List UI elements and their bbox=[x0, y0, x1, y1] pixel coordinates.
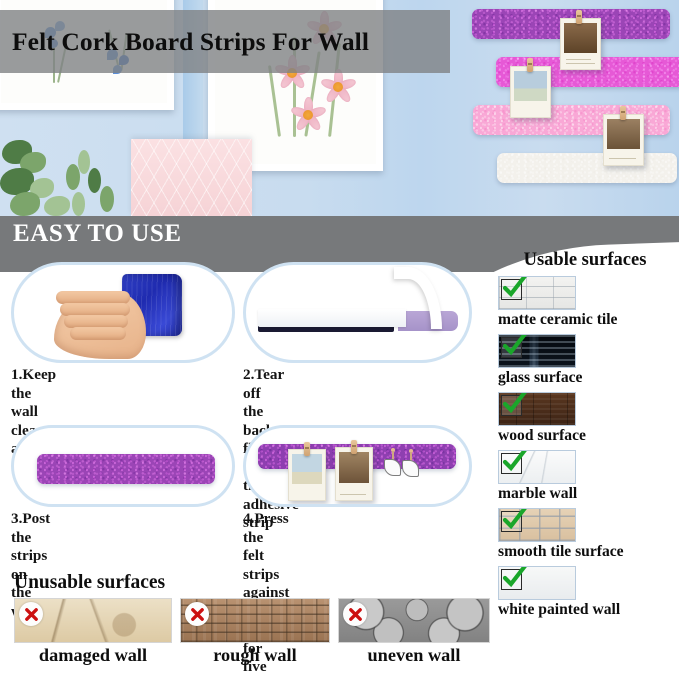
check-icon bbox=[501, 511, 522, 532]
uneven-wall-thumbnail bbox=[338, 598, 490, 643]
unusable-item-label: damaged wall bbox=[14, 645, 172, 666]
check-icon bbox=[501, 453, 522, 474]
usable-item-marble-wall: marble wall bbox=[487, 450, 679, 503]
rough-wall-thumbnail bbox=[180, 598, 330, 643]
felt-strips-on-wall bbox=[448, 0, 679, 216]
hero-image: Felt Cork Board Strips For Wall bbox=[0, 0, 679, 216]
x-icon bbox=[343, 602, 367, 626]
usable-item-label: matte ceramic tile bbox=[498, 311, 679, 329]
product-infographic: Felt Cork Board Strips For Wall EASY TO … bbox=[0, 0, 679, 678]
usable-item-label: wood surface bbox=[498, 427, 679, 445]
step-2-illustration bbox=[243, 262, 472, 363]
step-3-illustration bbox=[11, 425, 235, 507]
usable-item-white-painted-wall: white painted wall bbox=[487, 566, 679, 619]
unusable-item-label: uneven wall bbox=[338, 645, 490, 666]
unusable-surfaces-heading: Unusable surfaces bbox=[14, 572, 491, 594]
usable-item-label: glass surface bbox=[498, 369, 679, 387]
usable-item-glass-surface: glass surface bbox=[487, 334, 679, 387]
glass-surface-thumbnail bbox=[498, 334, 576, 368]
backing-film-curl bbox=[394, 267, 442, 329]
hanging-photo bbox=[603, 114, 644, 166]
product-title-bar: Felt Cork Board Strips For Wall bbox=[0, 10, 450, 73]
check-icon bbox=[501, 279, 522, 300]
clothespin-icon bbox=[576, 10, 582, 24]
backing-film bbox=[258, 309, 406, 327]
white-felt-strip bbox=[497, 153, 677, 183]
unusable-item-uneven-wall: uneven wall bbox=[338, 598, 490, 666]
step-4-illustration bbox=[243, 425, 472, 507]
usable-surfaces-section: Usable surfaces matte ceramic tile glass… bbox=[487, 250, 679, 619]
hanging-photo bbox=[560, 18, 601, 70]
page-title: Felt Cork Board Strips For Wall bbox=[12, 27, 369, 57]
x-icon bbox=[185, 602, 209, 626]
hanging-photo bbox=[288, 449, 326, 501]
purple-felt-strip bbox=[37, 454, 215, 484]
check-icon bbox=[501, 337, 522, 358]
clothespin-icon bbox=[304, 442, 310, 456]
usable-item-wood-surface: wood surface bbox=[487, 392, 679, 445]
wood-surface-thumbnail bbox=[498, 392, 576, 426]
check-icon bbox=[501, 395, 522, 416]
usable-item-label: white painted wall bbox=[498, 601, 679, 619]
unusable-item-damaged-wall: damaged wall bbox=[14, 598, 172, 666]
usable-surfaces-heading: Usable surfaces bbox=[491, 250, 679, 271]
easy-to-use-heading: EASY TO USE bbox=[13, 220, 182, 248]
usable-item-matte-ceramic-tile: matte ceramic tile bbox=[487, 276, 679, 329]
matte-ceramic-tile-thumbnail bbox=[498, 276, 576, 310]
usable-item-label: marble wall bbox=[498, 485, 679, 503]
finger bbox=[70, 327, 126, 340]
clothespin-icon bbox=[351, 440, 357, 454]
usable-item-smooth-tile-surface: smooth tile surface bbox=[487, 508, 679, 561]
step-1-illustration bbox=[11, 262, 235, 363]
unusable-item-label: rough wall bbox=[180, 645, 330, 666]
damaged-wall-thumbnail bbox=[14, 598, 172, 643]
clothespin-icon bbox=[620, 106, 626, 120]
hanging-photo bbox=[335, 447, 373, 501]
pink-tile-sample bbox=[131, 139, 252, 216]
usable-item-label: smooth tile surface bbox=[498, 543, 679, 561]
hanging-photo bbox=[510, 66, 551, 118]
instruction-steps: 1.Keep the wall clean and dry 2.Tear off… bbox=[0, 262, 484, 562]
check-icon bbox=[501, 569, 522, 590]
marble-wall-thumbnail bbox=[498, 450, 576, 484]
unusable-surfaces-section: Unusable surfaces damaged wall rough wal… bbox=[11, 572, 491, 678]
smooth-tile-surface-thumbnail bbox=[498, 508, 576, 542]
x-icon bbox=[19, 602, 43, 626]
unusable-item-rough-wall: rough wall bbox=[180, 598, 330, 666]
clothespin-icon bbox=[527, 58, 533, 72]
white-painted-wall-thumbnail bbox=[498, 566, 576, 600]
